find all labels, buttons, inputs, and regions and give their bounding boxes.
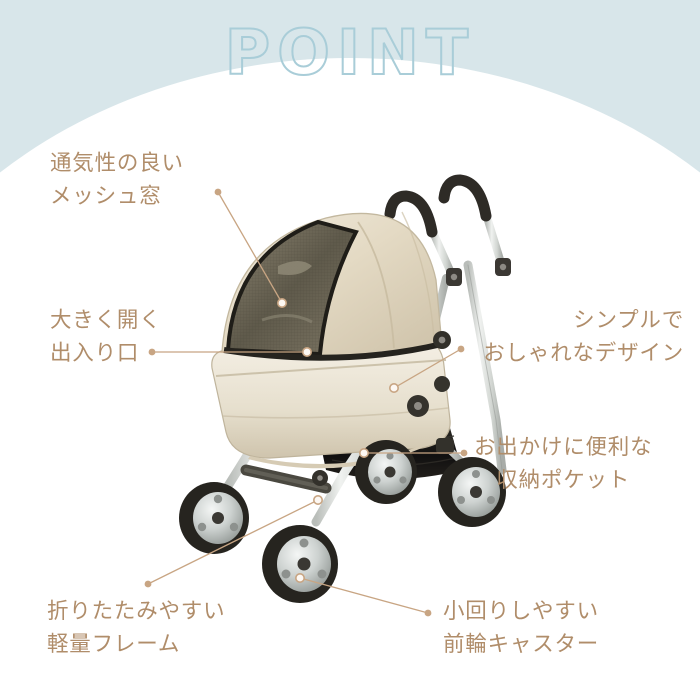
- callout-simple-design-label: シンプルで おしゃれなデザイン: [483, 305, 684, 370]
- infographic-canvas: POINT: [0, 0, 700, 700]
- front-caster-wheel-2: [262, 525, 338, 603]
- callout-storage-pocket-label: お出かけに便利な 収納ポケット: [474, 432, 652, 497]
- callout-entrance-label: 大きく開く 出入り口: [50, 305, 162, 370]
- front-caster-wheel: [179, 482, 249, 554]
- canopy-hood: [222, 212, 451, 358]
- product-image-pet-stroller: [150, 170, 570, 620]
- handle-grip-right: [444, 180, 486, 216]
- page-title: POINT: [0, 22, 700, 84]
- callout-light-frame-label: 折りたたみやすい 軽量フレーム: [47, 596, 225, 661]
- callout-mesh-window-label: 通気性の良い メッシュ窓: [50, 148, 184, 213]
- rear-wheel-2: [355, 440, 417, 504]
- callout-front-caster-label: 小回りしやすい 前輪キャスター: [443, 596, 599, 661]
